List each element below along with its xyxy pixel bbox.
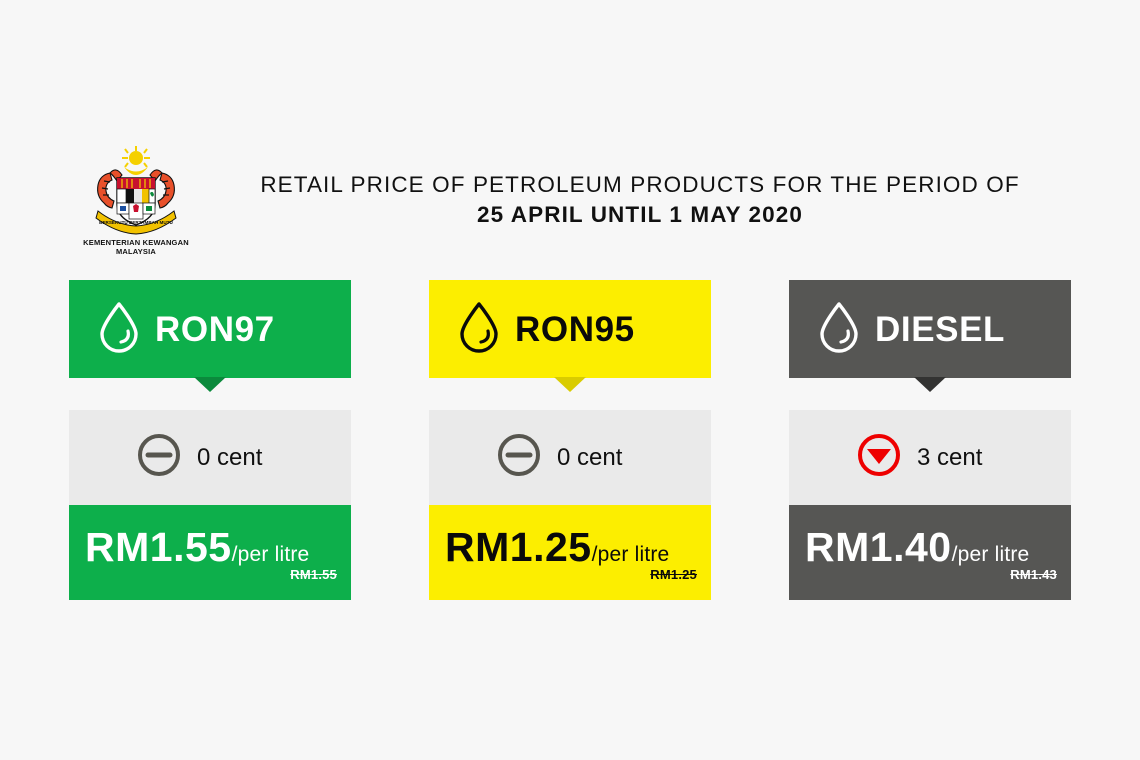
fuel-name: DIESEL [875,312,1005,347]
previous-price: RM1.55 [290,567,337,582]
page-header: BERSEKUTU BERTAMBAH MUTU KEMENTERIAN KEW… [0,140,1140,260]
minus-circle-icon [135,431,183,484]
previous-price: RM1.25 [650,567,697,582]
malaysia-coat-of-arms: BERSEKUTU BERTAMBAH MUTU KEMENTERIAN KEW… [76,145,196,257]
coat-of-arms-icon: BERSEKUTU BERTAMBAH MUTU [84,145,188,237]
price-change-label: 0 cent [557,446,622,470]
card-header: RON97 [69,280,351,378]
card-pointer [914,377,946,392]
title-line-2: 25 APRIL UNTIL 1 MAY 2020 [210,200,1070,230]
price-change-label: 3 cent [917,446,982,470]
price-row: RM1.25 /per litre RM1.25 [429,505,711,600]
fuel-droplet-icon [457,301,501,358]
card-pointer [194,377,226,392]
card-header: RON95 [429,280,711,378]
price-change-row: 3 cent [789,410,1071,505]
fuel-price-card-list: RON97 0 cent RM1.55 /per litre RM1.55 [69,280,1071,605]
price-change-row: 0 cent [429,410,711,505]
fuel-price-card-diesel: DIESEL 3 cent RM1.40 /per litre RM1.43 [789,280,1071,600]
fuel-droplet-icon [817,301,861,358]
price-unit: /per litre [952,544,1030,565]
fuel-price-card-ron97: RON97 0 cent RM1.55 /per litre RM1.55 [69,280,351,600]
page-title: RETAIL PRICE OF PETROLEUM PRODUCTS FOR T… [210,170,1070,230]
minus-circle-icon [495,431,543,484]
current-price: RM1.25 [445,527,592,568]
fuel-price-card-ron95: RON95 0 cent RM1.25 /per litre RM1.25 [429,280,711,600]
card-header: DIESEL [789,280,1071,378]
svg-text:BERSEKUTU BERTAMBAH MUTU: BERSEKUTU BERTAMBAH MUTU [99,220,173,225]
price-unit: /per litre [232,544,310,565]
current-price: RM1.40 [805,527,952,568]
fuel-name: RON97 [155,312,275,347]
crest-caption: KEMENTERIAN KEWANGAN MALAYSIA [76,238,196,256]
fuel-droplet-icon [97,301,141,358]
price-change-label: 0 cent [197,446,262,470]
arrow-down-circle-icon [855,431,903,484]
current-price: RM1.55 [85,527,232,568]
previous-price: RM1.43 [1010,567,1057,582]
price-change-row: 0 cent [69,410,351,505]
price-row: RM1.55 /per litre RM1.55 [69,505,351,600]
price-unit: /per litre [592,544,670,565]
fuel-name: RON95 [515,312,635,347]
card-pointer [554,377,586,392]
price-row: RM1.40 /per litre RM1.43 [789,505,1071,600]
title-line-1: RETAIL PRICE OF PETROLEUM PRODUCTS FOR T… [210,170,1070,200]
